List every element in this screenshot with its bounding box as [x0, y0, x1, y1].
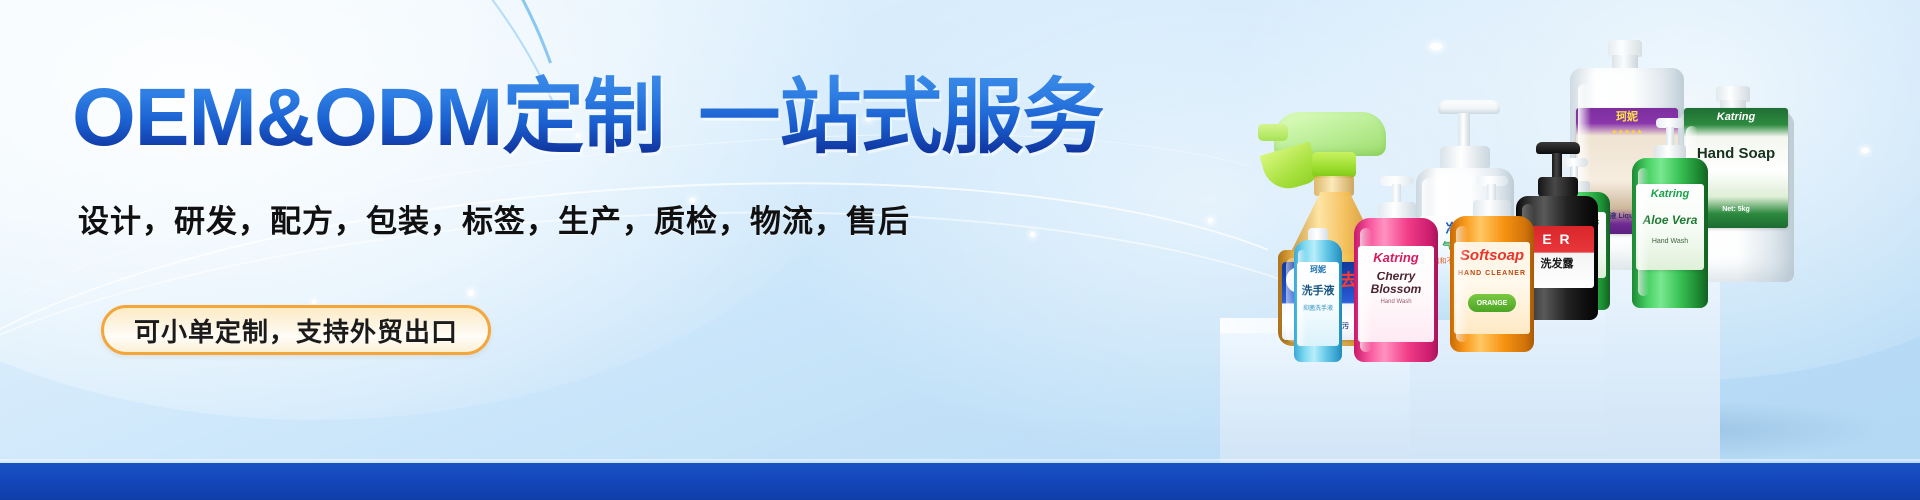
black-pump-stem [1552, 153, 1562, 179]
headline-part-2: 一站式服务 [698, 72, 1103, 163]
white-pump-collar [1440, 146, 1490, 170]
sparkle-8 [1030, 232, 1035, 237]
small-order-badge[interactable]: 可小单定制，支持外贸出口 [101, 305, 491, 355]
product-showcase: 珂妮 ★★★★★ 洗手液 Liquid Soap Katring Hand So… [1160, 0, 1920, 500]
aloe-pump-stem [1666, 127, 1674, 147]
banner-subtitle: 设计，研发，配方，包装，标签，生产，质检，物流，售后 [78, 196, 910, 241]
product-blue-hand-sanitizer-bottle: 珂妮 洗手液 抑菌洗手液 [1288, 228, 1348, 362]
blue-bottle-highlight [1298, 250, 1306, 346]
black-pump-collar [1538, 177, 1578, 197]
bottom-bar [0, 463, 1920, 500]
orange-bottle-highlight [1456, 226, 1468, 342]
banner-text-content: OEM&ODM定制一站式服务 设计，研发，配方，包装，标签，生产，质检，物流，售… [0, 0, 1000, 500]
orange-bottle-flavor-badge: ORANGE [1468, 294, 1516, 312]
white-pump-head [1438, 100, 1500, 114]
banner-headline: OEM&ODM定制一站式服务 [72, 74, 1103, 163]
promo-banner: OEM&ODM定制一站式服务 设计，研发，配方，包装，标签，生产，质检，物流，售… [0, 0, 1920, 500]
product-orange-softsoap-bottle: Softsoap HAND CLEANER ORANGE [1446, 176, 1538, 352]
pink-bottle-highlight [1360, 228, 1372, 352]
product-green-aloe-vera-bottle: Katring Aloe Vera Hand Wash [1628, 118, 1712, 308]
spray-nozzle [1258, 124, 1288, 141]
aloe-highlight [1638, 168, 1649, 296]
white-pump-stem [1458, 113, 1470, 149]
small-order-badge-label: 可小单定制，支持外贸出口 [134, 312, 458, 349]
spray-collar [1312, 152, 1356, 178]
headline-part-1: OEM&ODM定制 [72, 72, 664, 163]
product-pink-cherry-blossom-bottle: Katring Cherry Blossom Hand Wash [1350, 176, 1442, 362]
pink-pump-stem [1392, 184, 1401, 204]
